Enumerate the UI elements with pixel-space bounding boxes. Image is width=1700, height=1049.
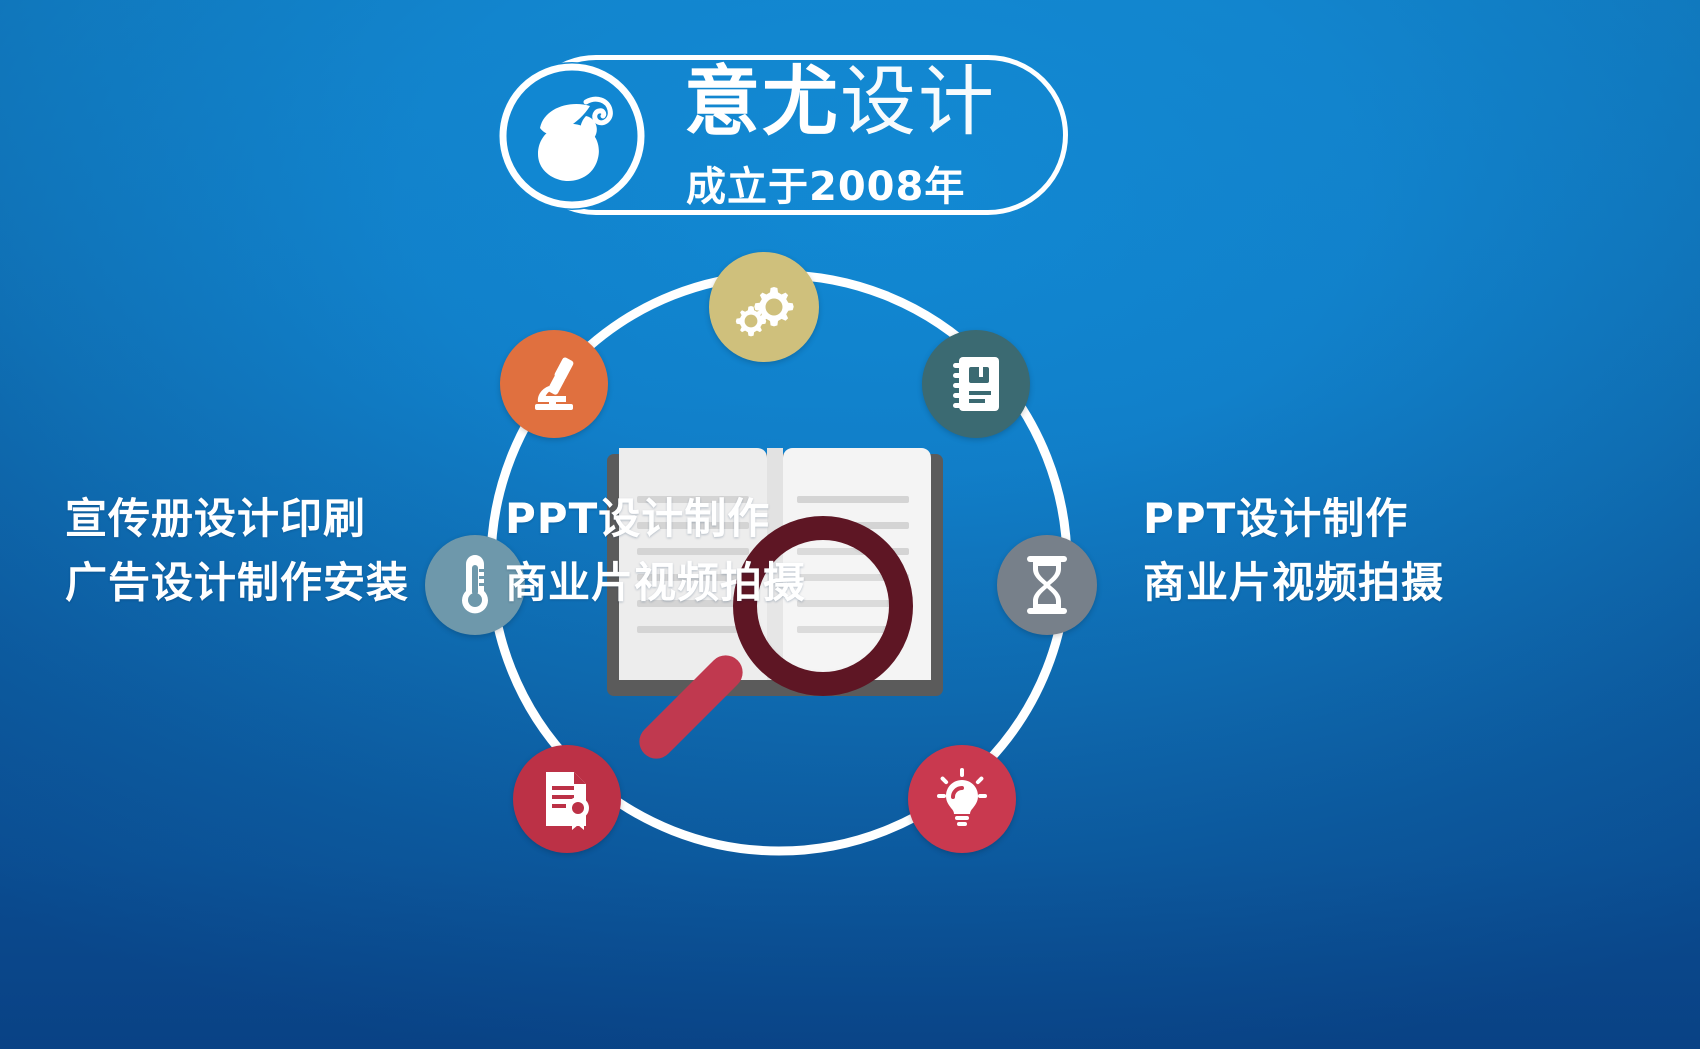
service-text-right: PPT设计制作 商业片视频拍摄 xyxy=(1143,487,1444,615)
service-text-left-line1: 宣传册设计印刷 xyxy=(65,487,409,551)
microscope-icon[interactable] xyxy=(500,330,608,438)
service-text-right-line1: PPT设计制作 xyxy=(1143,487,1444,551)
bird-leaf-logo-icon xyxy=(498,62,646,210)
hourglass-icon[interactable] xyxy=(997,535,1097,635)
presentation-slide: 意尤设计 成立于2008年 xyxy=(0,0,1700,1049)
service-text-center-line2: 商业片视频拍摄 xyxy=(505,551,806,615)
gears-icon[interactable] xyxy=(709,252,819,362)
service-text-center: PPT设计制作 商业片视频拍摄 xyxy=(505,487,806,615)
logo-text: 意尤设计 成立于2008年 xyxy=(684,62,1056,212)
logo-name: 意尤设计 xyxy=(684,64,996,140)
notebook-icon[interactable] xyxy=(922,330,1030,438)
service-text-right-line2: 商业片视频拍摄 xyxy=(1143,551,1444,615)
certificate-icon[interactable] xyxy=(513,745,621,853)
logo-name-bold: 意尤 xyxy=(684,57,840,146)
lightbulb-icon[interactable] xyxy=(908,745,1016,853)
service-text-left-line2: 广告设计制作安装 xyxy=(65,551,409,615)
logo-tagline: 成立于2008年 xyxy=(686,154,965,212)
service-text-center-line1: PPT设计制作 xyxy=(505,487,806,551)
logo-name-thin: 设计 xyxy=(840,57,996,146)
service-text-left: 宣传册设计印刷 广告设计制作安装 xyxy=(65,487,409,615)
